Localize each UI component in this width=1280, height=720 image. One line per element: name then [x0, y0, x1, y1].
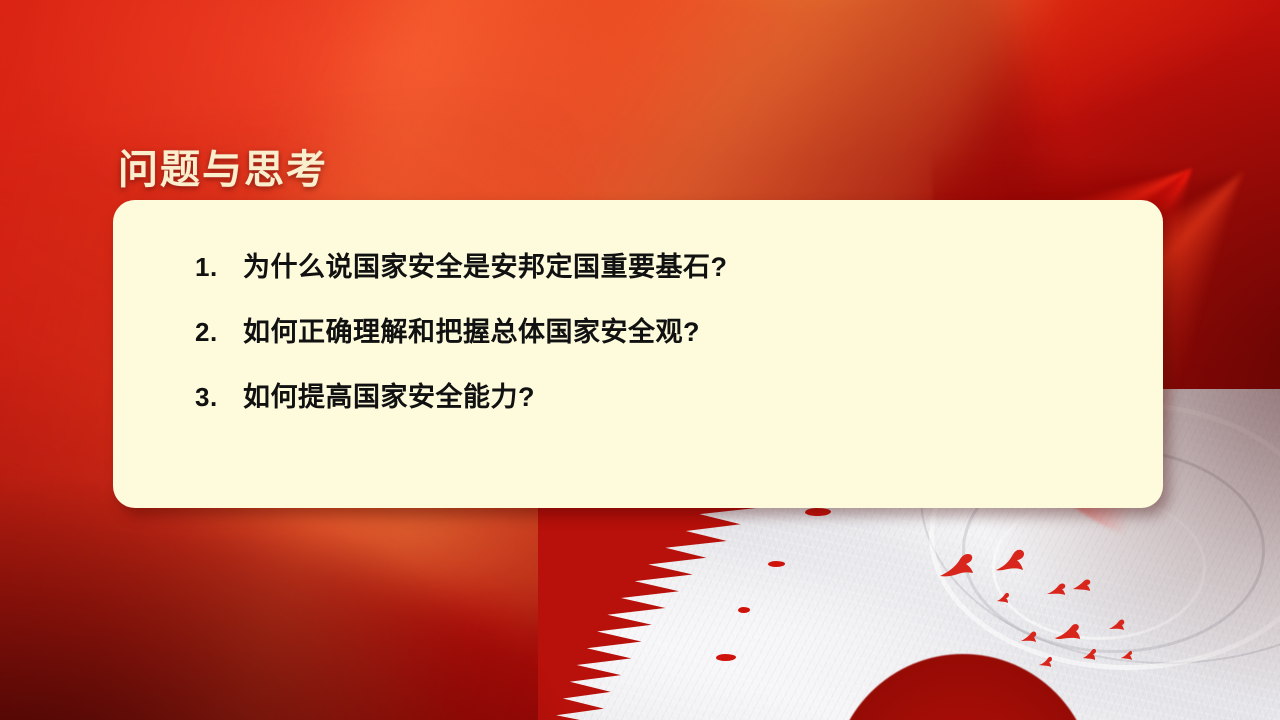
dove-icon: [1072, 578, 1092, 593]
dove-icon: [1108, 618, 1126, 632]
dove-icon: [996, 592, 1011, 604]
dove-icon: [1082, 648, 1098, 661]
question-list: 1. 为什么说国家安全是安邦定国重要基石? 2. 如何正确理解和把握总体国家安全…: [195, 252, 1123, 413]
list-item-text: 如何提高国家安全能力?: [243, 382, 1123, 413]
dove-icon: [1120, 650, 1134, 661]
list-item: 2. 如何正确理解和把握总体国家安全观?: [195, 317, 1123, 348]
dove-icon: [1046, 582, 1068, 597]
dove-icon: [1054, 622, 1082, 642]
list-item-number: 1.: [195, 253, 243, 283]
list-item-text: 如何正确理解和把握总体国家安全观?: [243, 317, 1123, 348]
presentation-slide: 问题与思考 1. 为什么说国家安全是安邦定国重要基石? 2. 如何正确理解和把握…: [0, 0, 1280, 720]
page-title: 问题与思考: [118, 137, 328, 195]
dove-icon: [1038, 656, 1054, 668]
list-item: 3. 如何提高国家安全能力?: [195, 382, 1123, 413]
question-card: 1. 为什么说国家安全是安邦定国重要基石? 2. 如何正确理解和把握总体国家安全…: [113, 200, 1163, 508]
dove-icon: [1020, 630, 1038, 644]
dove-icon: [938, 552, 980, 582]
list-item: 1. 为什么说国家安全是安邦定国重要基石?: [195, 252, 1123, 283]
list-item-text: 为什么说国家安全是安邦定国重要基石?: [243, 252, 1123, 283]
list-item-number: 2.: [195, 318, 243, 348]
list-item-number: 3.: [195, 383, 243, 413]
dove-icon: [994, 548, 1030, 576]
